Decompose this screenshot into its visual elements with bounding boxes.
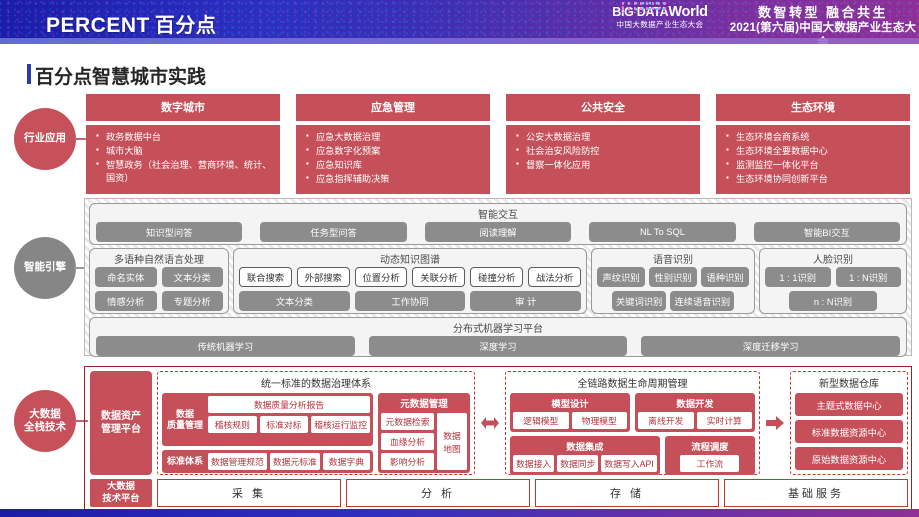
- list-item: 公安大数据治理: [516, 131, 692, 144]
- list-item: 生态环境全要数据中心: [726, 145, 902, 158]
- brand-name-en: PERCENT: [46, 14, 150, 37]
- card-title: 生态环境: [716, 94, 910, 121]
- arrow-right-icon: [765, 371, 785, 475]
- lifecycle-group-data-integration: 数据集成 数据接入 数据同步 数据写入API: [510, 436, 660, 475]
- engine-pill-audit[interactable]: 审 计: [470, 291, 581, 311]
- lifecycle-pill-physical-model[interactable]: 物理模型: [572, 412, 628, 429]
- lifecycle-pill-data-write-api[interactable]: 数据写入API: [601, 455, 656, 472]
- brand-logo: PERCENT百分点: [46, 9, 216, 38]
- group-title: 人脸识别: [765, 249, 901, 267]
- standard-system-block: 标准体系 数据管理规范 数据元标准 数据字典: [162, 450, 373, 473]
- engine-group-interaction: 智能交互 知识型问答 任务型问答 阅读理解 NL To SQL 智能BI交互: [89, 203, 907, 245]
- engine-pill-work-collaboration[interactable]: 工作协同: [355, 291, 466, 311]
- industry-card-emergency: 应急管理 应急大数据治理 应急数字化预案 应急知识库 应急指挥辅助决策: [296, 94, 490, 194]
- metadata-pill-lineage[interactable]: 血缘分析: [381, 433, 434, 450]
- engine-pill-tactics-analysis[interactable]: 战法分析: [528, 267, 581, 287]
- engine-pill-relation-analysis[interactable]: 关联分析: [412, 267, 465, 287]
- quality-pill-audit-rules[interactable]: 稽核规则: [208, 416, 257, 433]
- quality-report-pill[interactable]: 数据质量分析报告: [208, 396, 370, 413]
- engine-pill-nl-to-sql[interactable]: NL To SQL: [589, 222, 735, 242]
- card-title: 公共安全: [506, 94, 700, 121]
- engine-pill-text-classification[interactable]: 文本分类: [162, 267, 224, 287]
- group-title: 动态知识图谱: [239, 249, 581, 267]
- industry-applications-row: 数字城市 政务数据中台 城市大脑 智慧政务（社会治理、营商环境、统计、国资） 应…: [86, 94, 910, 194]
- engine-pill-language-recognition[interactable]: 语种识别: [701, 267, 749, 287]
- card-body: 生态环境会商系统 生态环境全要数据中心 监测监控一体化平台 生态环境协同创新平台: [716, 125, 910, 194]
- engine-pill-keyword-recognition[interactable]: 关键词识别: [612, 291, 667, 311]
- block-label: 元数据管理: [381, 396, 467, 410]
- quality-pill-audit-monitoring[interactable]: 稽核运行监控: [311, 416, 370, 433]
- page-title-accent-bar: [27, 64, 31, 84]
- list-item: 智慧政务（社会治理、营商环境、统计、国资）: [96, 159, 272, 185]
- group-title: 模型设计: [513, 395, 627, 412]
- tech-layer-store[interactable]: 存 储: [535, 479, 719, 507]
- engine-pill-continuous-speech[interactable]: 连续语音识别: [670, 291, 734, 311]
- intelligent-engine-section: 智能交互 知识型问答 任务型问答 阅读理解 NL To SQL 智能BI交互 多…: [84, 198, 912, 356]
- page-header: PERCENT百分点 BiG DATAWorld 中国大数据产业生态大会 数智转…: [0, 0, 919, 44]
- quality-pill-standard-benchmark[interactable]: 标准对标: [260, 416, 309, 433]
- lifecycle-pill-logical-model[interactable]: 逻辑模型: [513, 412, 569, 429]
- header-bottom-strip: [0, 38, 919, 44]
- engine-group-knowledge-graph: 动态知识图谱 联合搜索 外部搜索 位置分析 关联分析 碰撞分析 战法分析 文本分…: [233, 248, 587, 314]
- group-title: 数据开发: [638, 395, 752, 412]
- arrow-left-right-icon: [480, 371, 500, 475]
- engine-pill-collision-analysis[interactable]: 碰撞分析: [470, 267, 523, 287]
- card-body: 政务数据中台 城市大脑 智慧政务（社会治理、营商环境、统计、国资）: [86, 125, 280, 194]
- engine-pill-joint-search[interactable]: 联合搜索: [239, 267, 292, 287]
- layer-label-engine: 智能引擎: [14, 237, 76, 299]
- engine-pill-kg-text-classification[interactable]: 文本分类: [239, 291, 350, 311]
- box-title: 新型数据仓库: [795, 374, 903, 393]
- engine-pill-traditional-ml[interactable]: 传统机器学习: [96, 336, 355, 356]
- list-item: 生态环境协同创新平台: [726, 173, 902, 186]
- card-body: 应急大数据治理 应急数字化预案 应急知识库 应急指挥辅助决策: [296, 125, 490, 194]
- engine-group-ml-platform: 分布式机器学习平台 传统机器学习 深度学习 深度迁移学习: [89, 317, 907, 357]
- block-label: 数据 质量管理: [165, 409, 205, 431]
- engine-pill-voiceprint[interactable]: 声纹识别: [597, 267, 645, 287]
- card-title: 应急管理: [296, 94, 490, 121]
- new-data-warehouse-box: 新型数据仓库 主题式数据中心 标准数据资源中心 原始数据资源中心: [790, 371, 908, 475]
- engine-pill-transfer-learning[interactable]: 深度迁移学习: [641, 336, 900, 356]
- industry-card-public-security: 公共安全 公安大数据治理 社会治安风险防控 督察一体化应用: [506, 94, 700, 194]
- group-title: 多语种自然语言处理: [95, 249, 223, 267]
- list-item: 应急数字化预案: [306, 145, 482, 158]
- conference-name: 2021(第六届)中国大数据产业生态大会: [728, 21, 918, 50]
- page-footer-strip: [0, 509, 919, 517]
- box-title: 统一标准的数据治理体系: [162, 374, 470, 393]
- engine-group-nlp: 多语种自然语言处理 命名实体 文本分类 情感分析 专题分析: [89, 248, 229, 314]
- list-item: 应急大数据治理: [306, 131, 482, 144]
- box-title: 全链路数据生命周期管理: [510, 374, 755, 393]
- tech-layer-analyze[interactable]: 分 析: [346, 479, 530, 507]
- list-item: 督察一体化应用: [516, 159, 692, 172]
- lifecycle-group-data-development: 数据开发 离线开发 实时计算: [635, 393, 755, 432]
- list-item: 城市大脑: [96, 145, 272, 158]
- list-item: 监测监控一体化平台: [726, 159, 902, 172]
- card-title: 数字城市: [86, 94, 280, 121]
- data-quality-management-block: 数据 质量管理 数据质量分析报告 稽核规则 标准对标 稽核运行监控: [162, 393, 373, 446]
- page-title: 百分点智慧城市实践: [35, 62, 206, 89]
- dots-decoration-icon: [622, 1, 668, 13]
- engine-pill-sentiment-analysis[interactable]: 情感分析: [95, 291, 157, 311]
- list-item: 应急知识库: [306, 159, 482, 172]
- engine-pill-n-to-n[interactable]: n : N识别: [789, 291, 876, 311]
- engine-pill-one-to-one[interactable]: 1 : 1识别: [765, 267, 831, 287]
- engine-group-speech-recognition: 语音识别 声纹识别 性别识别 语种识别 关键词识别 连续语音识别: [591, 248, 755, 314]
- list-item: 社会治安风险防控: [516, 145, 692, 158]
- lifecycle-pill-data-sync[interactable]: 数据同步: [557, 455, 598, 472]
- data-asset-platform-label: 数据资产 管理平台: [90, 371, 152, 475]
- layer-label-industry: 行业应用: [14, 108, 76, 170]
- list-item: 应急指挥辅助决策: [306, 173, 482, 186]
- metadata-pill-data-map[interactable]: 数据 地图: [437, 413, 467, 470]
- data-lifecycle-box: 全链路数据生命周期管理 模型设计 逻辑模型 物理模型 数据开发 离线开发: [505, 371, 760, 475]
- engine-pill-deep-learning[interactable]: 深度学习: [369, 336, 628, 356]
- group-title: 数据集成: [513, 438, 657, 455]
- tech-layer-collect[interactable]: 采 集: [157, 479, 341, 507]
- group-title: 语音识别: [597, 249, 749, 267]
- data-governance-box: 统一标准的数据治理体系 数据 质量管理 数据质量分析报告 稽核规则 标准对标 稽…: [157, 371, 475, 475]
- metadata-management-block: 元数据管理 元数据检索 血缘分析 影响分析 数据 地图: [378, 393, 470, 473]
- lifecycle-pill-workflow[interactable]: 工作流: [680, 455, 739, 472]
- metadata-pill-impact[interactable]: 影响分析: [381, 453, 434, 470]
- engine-pill-topic-analysis[interactable]: 专题分析: [162, 291, 224, 311]
- bigdata-fullstack-section: 数据资产 管理平台 统一标准的数据治理体系 数据 质量管理 数据质量分析报告 稽…: [84, 366, 912, 511]
- layer-label-bigdata: 大数据 全栈技术: [14, 390, 76, 452]
- lifecycle-group-process-scheduling: 流程调度 工作流: [665, 436, 755, 475]
- card-body: 公安大数据治理 社会治安风险防控 督察一体化应用: [506, 125, 700, 194]
- engine-pill-one-to-n[interactable]: 1 : N识别: [836, 267, 902, 287]
- engine-pill-gender-recognition[interactable]: 性别识别: [649, 267, 697, 287]
- standard-pill-management-spec[interactable]: 数据管理规范: [208, 453, 267, 470]
- standard-pill-data-element[interactable]: 数据元标准: [270, 453, 320, 470]
- lifecycle-pill-data-ingest[interactable]: 数据接入: [513, 455, 554, 472]
- engine-pill-location-analysis[interactable]: 位置分析: [355, 267, 408, 287]
- block-label: 标准体系: [165, 453, 205, 470]
- group-title: 分布式机器学习平台: [96, 318, 900, 336]
- engine-pill-reading-comprehension[interactable]: 阅读理解: [425, 222, 571, 242]
- standard-pill-data-dictionary[interactable]: 数据字典: [323, 453, 370, 470]
- engine-group-face-recognition: 人脸识别 1 : 1识别 1 : N识别 n : N识别: [759, 248, 907, 314]
- metadata-pill-search[interactable]: 元数据检索: [381, 413, 434, 430]
- bigdata-tech-platform-label: 大数据 技术平台: [90, 479, 152, 507]
- group-title: 智能交互: [96, 204, 900, 222]
- lifecycle-pill-realtime-compute[interactable]: 实时计算: [697, 412, 753, 429]
- warehouse-pill-raw-resource-center[interactable]: 原始数据资源中心: [795, 447, 903, 470]
- engine-pill-smart-bi[interactable]: 智能BI交互: [754, 222, 900, 242]
- industry-card-digital-city: 数字城市 政务数据中台 城市大脑 智慧政务（社会治理、营商环境、统计、国资）: [86, 94, 280, 194]
- list-item: 生态环境会商系统: [726, 131, 902, 144]
- warehouse-pill-subject-data-center[interactable]: 主题式数据中心: [795, 393, 903, 416]
- engine-pill-knowledge-qa[interactable]: 知识型问答: [96, 222, 242, 242]
- conference-slogan: 数智转型 融合共生: [728, 5, 918, 21]
- brand-name-cn: 百分点: [155, 15, 217, 37]
- engine-pill-external-search[interactable]: 外部搜索: [297, 267, 350, 287]
- industry-card-ecology: 生态环境 生态环境会商系统 生态环境全要数据中心 监测监控一体化平台 生态环境协…: [716, 94, 910, 194]
- big-data-world-logo: BiG DATAWorld 中国大数据产业生态大会: [604, 5, 716, 39]
- warehouse-pill-standard-resource-center[interactable]: 标准数据资源中心: [795, 420, 903, 443]
- bdw-logo-line2: 中国大数据产业生态大会: [604, 21, 716, 29]
- tech-layer-base-service[interactable]: 基础服务: [724, 479, 908, 507]
- lifecycle-pill-offline-dev[interactable]: 离线开发: [638, 412, 694, 429]
- engine-pill-task-qa[interactable]: 任务型问答: [260, 222, 406, 242]
- list-item: 政务数据中台: [96, 131, 272, 144]
- engine-pill-named-entity[interactable]: 命名实体: [95, 267, 157, 287]
- group-title: 流程调度: [668, 438, 752, 455]
- lifecycle-group-model-design: 模型设计 逻辑模型 物理模型: [510, 393, 630, 432]
